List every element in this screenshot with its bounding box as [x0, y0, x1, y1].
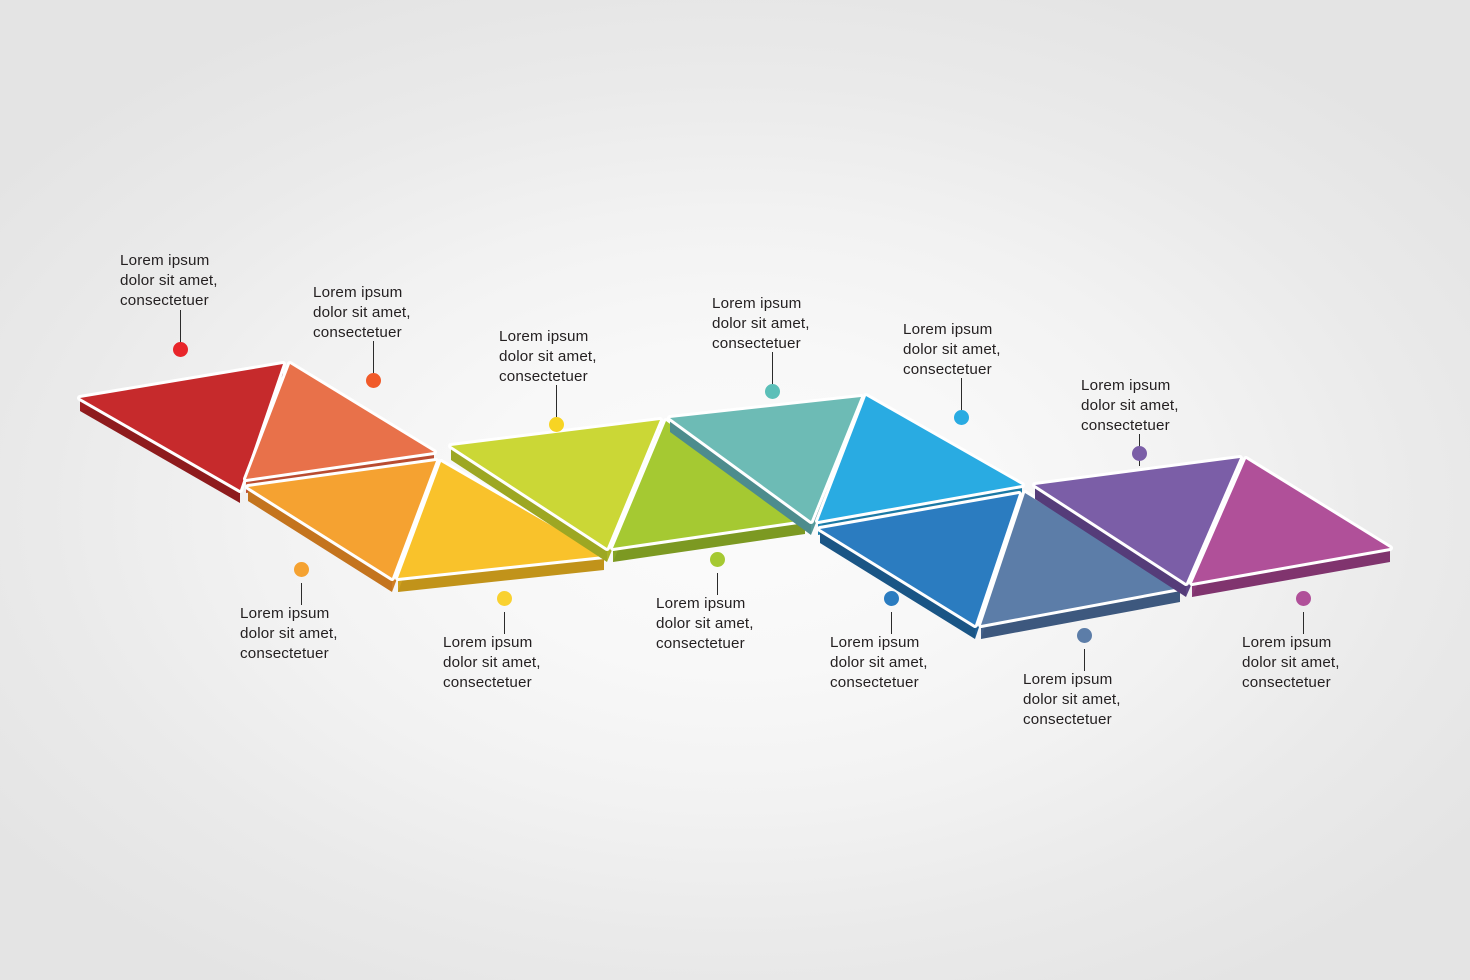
- label-step-7-dot[interactable]: [294, 562, 309, 577]
- label-step-4-leader-line: [772, 352, 773, 384]
- label-step-11-dot[interactable]: [1077, 628, 1092, 643]
- label-step-3-dot[interactable]: [549, 417, 564, 432]
- label-step-1-leader-line: [180, 310, 181, 343]
- label-step-9-text: Lorem ipsum dolor sit amet, consectetuer: [656, 594, 806, 654]
- label-step-10-text: Lorem ipsum dolor sit amet, consectetuer: [830, 633, 980, 693]
- label-step-8-dot[interactable]: [497, 591, 512, 606]
- label-step-7-leader-line: [301, 583, 302, 605]
- label-step-4-dot[interactable]: [765, 384, 780, 399]
- infographic-canvas: Lorem ipsum dolor sit amet, consectetuer…: [0, 0, 1470, 980]
- label-step-10-leader-line: [891, 612, 892, 634]
- label-step-1-dot[interactable]: [173, 342, 188, 357]
- label-step-5-leader-line: [961, 378, 962, 410]
- label-step-3-leader-line: [556, 385, 557, 417]
- label-step-12-text: Lorem ipsum dolor sit amet, consectetuer: [1242, 633, 1392, 693]
- label-step-11-text: Lorem ipsum dolor sit amet, consectetuer: [1023, 670, 1173, 730]
- label-step-3-text: Lorem ipsum dolor sit amet, consectetuer: [499, 327, 649, 387]
- triangle-ribbon: [0, 0, 1470, 980]
- label-step-2-dot[interactable]: [366, 373, 381, 388]
- label-step-6-dot[interactable]: [1132, 446, 1147, 461]
- label-step-8-text: Lorem ipsum dolor sit amet, consectetuer: [443, 633, 593, 693]
- label-step-11-leader-line: [1084, 649, 1085, 671]
- label-step-6-text: Lorem ipsum dolor sit amet, consectetuer: [1081, 376, 1231, 436]
- label-step-9-leader-line: [717, 573, 718, 595]
- label-step-10-dot[interactable]: [884, 591, 899, 606]
- label-step-4-text: Lorem ipsum dolor sit amet, consectetuer: [712, 294, 862, 354]
- label-step-5-dot[interactable]: [954, 410, 969, 425]
- label-step-12-dot[interactable]: [1296, 591, 1311, 606]
- label-step-9-dot[interactable]: [710, 552, 725, 567]
- label-step-5-text: Lorem ipsum dolor sit amet, consectetuer: [903, 320, 1053, 380]
- label-step-8-leader-line: [504, 612, 505, 634]
- label-step-7-text: Lorem ipsum dolor sit amet, consectetuer: [240, 604, 390, 664]
- label-step-2-text: Lorem ipsum dolor sit amet, consectetuer: [313, 283, 463, 343]
- label-step-2-leader-line: [373, 341, 374, 373]
- label-step-12-leader-line: [1303, 612, 1304, 634]
- label-step-1-text: Lorem ipsum dolor sit amet, consectetuer: [120, 251, 270, 311]
